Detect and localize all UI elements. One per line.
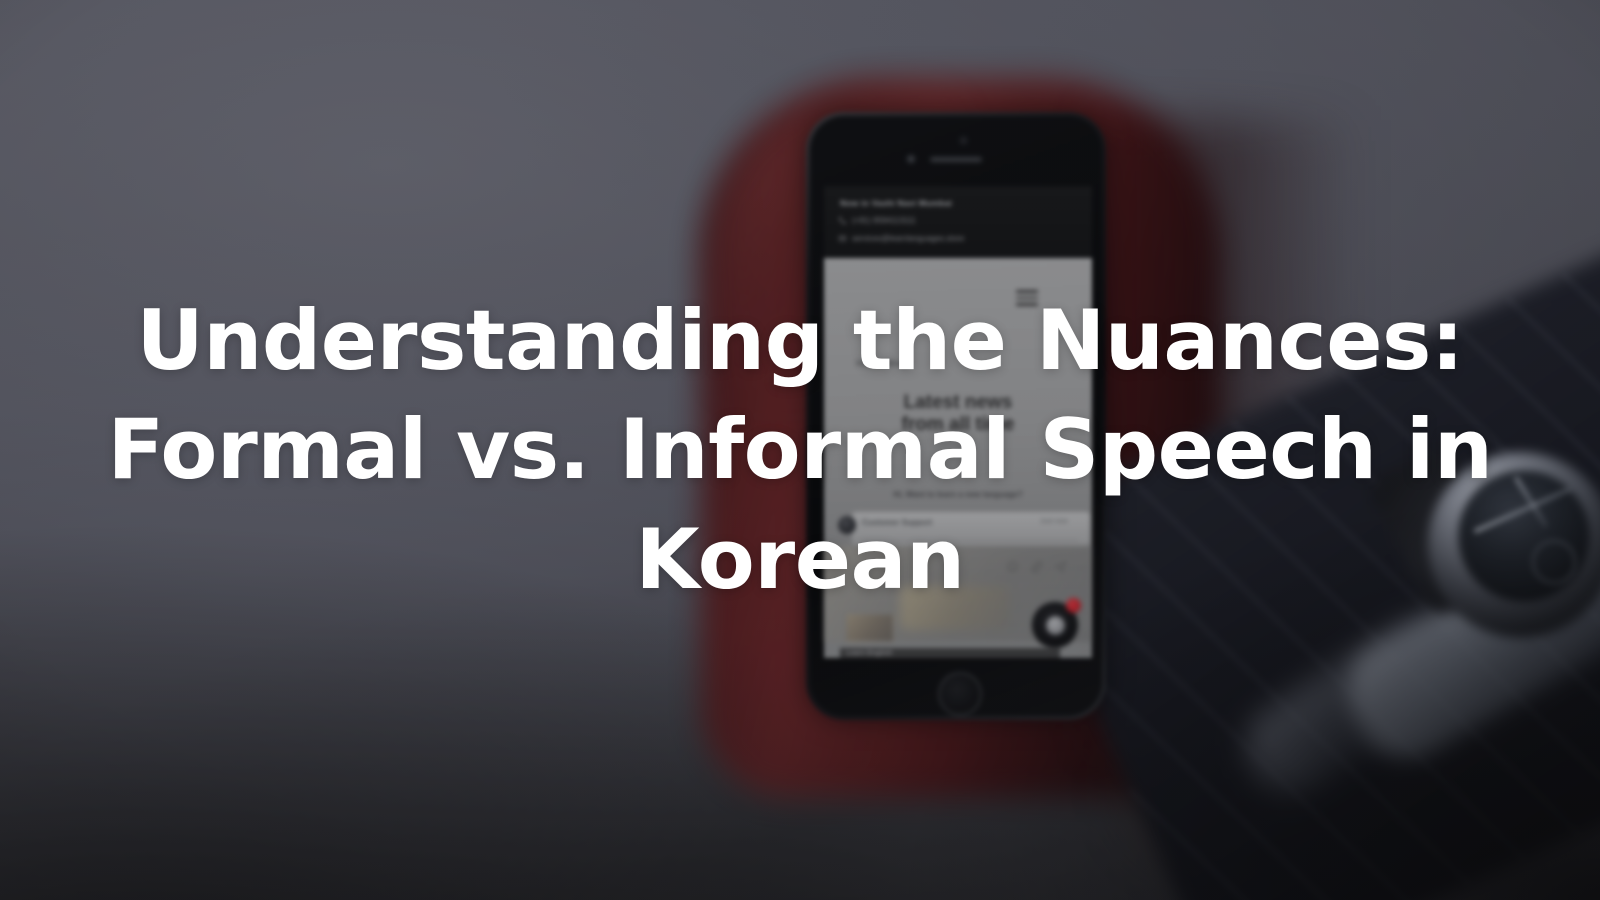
title-overlay: Understanding the Nuances: Formal vs. In… <box>50 0 1550 900</box>
hero-banner: Now in Vashi Navi Mumbai (+91) 959411311… <box>0 0 1600 900</box>
page-title: Understanding the Nuances: Formal vs. In… <box>90 286 1510 615</box>
